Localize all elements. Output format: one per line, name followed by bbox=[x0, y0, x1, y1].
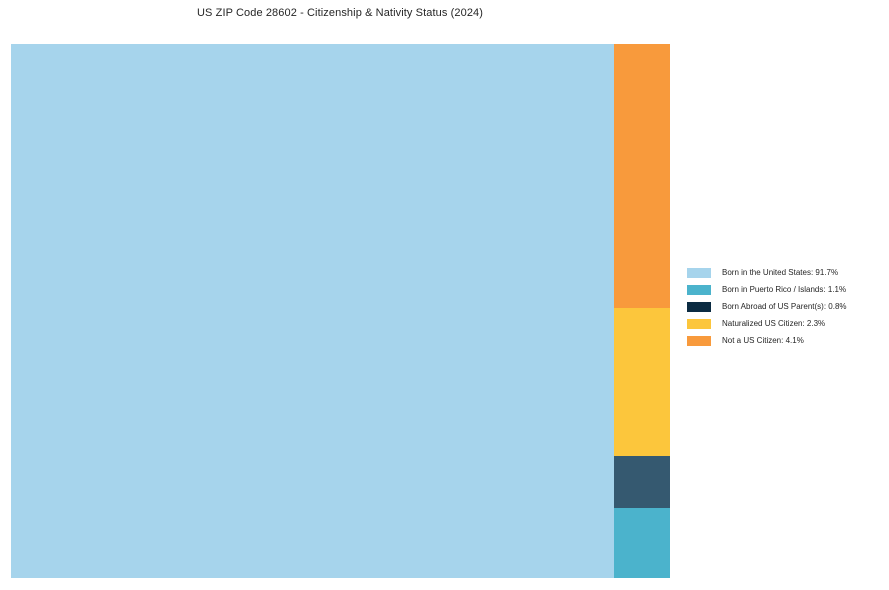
legend-item[interactable]: Not a US Citizen: 4.1% bbox=[687, 332, 883, 349]
legend-swatch-icon bbox=[687, 319, 711, 329]
legend-item-label: Born Abroad of US Parent(s): 0.8% bbox=[722, 302, 847, 312]
legend-item-label: Born in the United States: 91.7% bbox=[722, 268, 838, 278]
legend-item[interactable]: Born in the United States: 91.7% bbox=[687, 264, 883, 281]
treemap-plot-area: Born in the United States: 91.7%Not a US… bbox=[11, 44, 670, 578]
treemap-tile[interactable]: Born in the United States: 91.7% bbox=[11, 44, 614, 578]
legend-swatch-icon bbox=[687, 302, 711, 312]
treemap-tile[interactable]: Born in Puerto Rico / Islands: 1.1% bbox=[614, 508, 670, 578]
legend-swatch-icon bbox=[687, 336, 711, 346]
chart-legend: Born in the United States: 91.7%Born in … bbox=[687, 264, 883, 349]
legend-item[interactable]: Born in Puerto Rico / Islands: 1.1% bbox=[687, 281, 883, 298]
legend-item-label: Born in Puerto Rico / Islands: 1.1% bbox=[722, 285, 846, 295]
legend-item[interactable]: Born Abroad of US Parent(s): 0.8% bbox=[687, 298, 883, 315]
chart-figure: US ZIP Code 28602 - Citizenship & Nativi… bbox=[0, 0, 889, 590]
treemap-tile[interactable]: Naturalized US Citizen: 2.3% bbox=[614, 308, 670, 456]
treemap-tile[interactable]: Born Abroad of US Parent(s): 0.8% bbox=[614, 456, 670, 508]
legend-swatch-icon bbox=[687, 268, 711, 278]
treemap-tile[interactable]: Not a US Citizen: 4.1% bbox=[614, 44, 670, 308]
legend-item-label: Not a US Citizen: 4.1% bbox=[722, 336, 804, 346]
legend-item-label: Naturalized US Citizen: 2.3% bbox=[722, 319, 825, 329]
page-title: US ZIP Code 28602 - Citizenship & Nativi… bbox=[0, 7, 680, 19]
legend-item[interactable]: Naturalized US Citizen: 2.3% bbox=[687, 315, 883, 332]
legend-swatch-icon bbox=[687, 285, 711, 295]
